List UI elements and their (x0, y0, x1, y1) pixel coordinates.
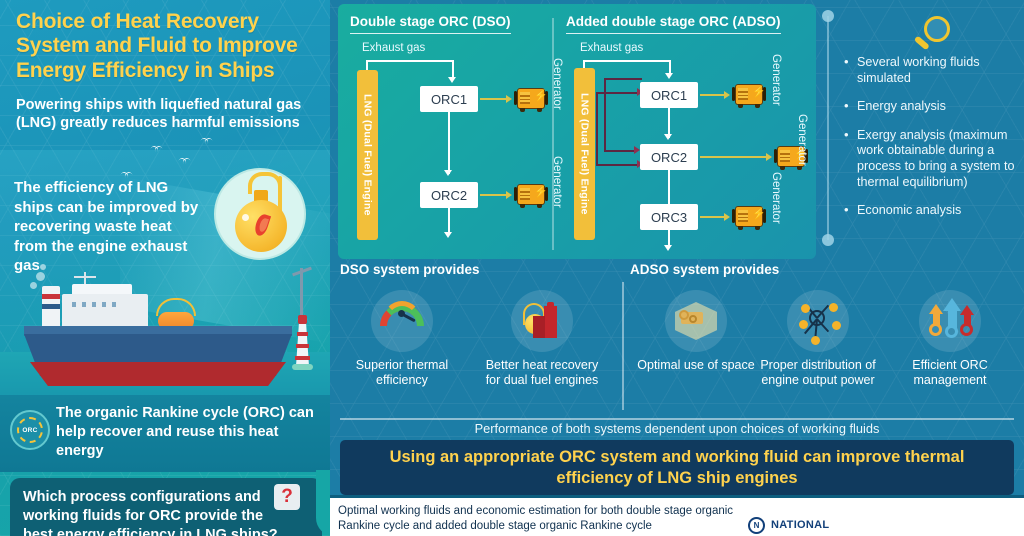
footer-bar: Optimal working fluids and economic esti… (330, 498, 1024, 536)
adso-generator-2-label: Generator (796, 114, 808, 206)
research-question-box: Which process configurations and working… (10, 478, 322, 536)
adso-exhaust-arrow (665, 73, 673, 79)
benefit-superior-thermal-efficiency: Superior thermal efficiency (338, 290, 466, 388)
dso-orc1-to-orc2-line (448, 112, 450, 174)
heat-recovery-icon (511, 290, 573, 352)
system-diagrams-band: Double stage ORC (DSO) Exhaust gas LNG (… (338, 4, 816, 259)
dso-exhaust-line-h (366, 60, 454, 62)
gauge-icon (371, 290, 433, 352)
gas-cylinder-flame-icon (214, 168, 306, 260)
adso-recycle-top-h (604, 78, 642, 80)
question-mark-icon: ? (274, 484, 300, 510)
adso-orc3-gen-arrow (724, 213, 730, 221)
dso-exhaust-line-down-right (452, 60, 454, 78)
adso-exhaust-line-h (583, 60, 671, 62)
system-benefits-section: DSO system provides ADSO system provides… (330, 262, 1024, 420)
adso-generator-1-icon: ⚡ (732, 82, 766, 108)
benefit-better-heat-recovery: Better heat recovery for dual fuel engin… (478, 290, 606, 388)
space-box-icon (665, 290, 727, 352)
left-intro-panel: Choice of Heat Recovery System and Fluid… (0, 0, 330, 536)
benefit-efficient-orc-management: Efficient ORC management (886, 290, 1014, 388)
bullet-item: Economic analysis (843, 203, 1018, 219)
dso-exhaust-arrow (448, 77, 456, 83)
orc-statement-text: The organic Rankine cycle (ORC) can help… (56, 404, 324, 461)
dso-panel-title: Double stage ORC (DSO) (350, 14, 511, 34)
adso-panel-title: Added double stage ORC (ADSO) (566, 14, 781, 34)
bullet-item: Exergy analysis (maximum work obtainable… (843, 128, 1018, 190)
lighthouse-icon (292, 310, 314, 372)
rail-dot-bottom (822, 234, 834, 246)
benefit-proper-distribution: Proper distribution of engine output pow… (754, 290, 882, 388)
dso-orc1-gen-arrow (506, 95, 512, 103)
adso-orc1-gen-arrow (724, 91, 730, 99)
rail-dot-top (822, 10, 834, 22)
adso-engine-bar: LNG (Dual Fuel) Engine (574, 68, 595, 240)
adso-orc1-gen-line (700, 94, 726, 96)
bird-icon (150, 146, 163, 153)
adso-exhaust-gas-label: Exhaust gas (580, 42, 643, 54)
footer-caption: Optimal working fluids and economic esti… (338, 504, 738, 534)
efficiency-statement: The efficiency of LNG ships can be impro… (14, 178, 204, 276)
adso-outlet-arrow (664, 245, 672, 251)
performance-note: Performance of both systems dependent up… (340, 421, 1014, 436)
dso-orc2-arrow (444, 170, 452, 176)
dso-generator-1-icon: ⚡ (514, 86, 548, 112)
analysis-bullet-list: Several working fluids simulated Energy … (843, 55, 1018, 232)
performance-divider (340, 418, 1014, 420)
dso-orc1-gen-line (480, 98, 508, 100)
analysis-rail (827, 16, 829, 240)
adso-orc2-arrow (664, 134, 672, 140)
bird-icon (178, 158, 191, 165)
adso-exhaust-line-down-right (669, 60, 671, 74)
adso-generator-3-label: Generator (770, 172, 782, 258)
adso-orc3-box: ORC3 (640, 204, 698, 230)
bullet-item: Several working fluids simulated (843, 55, 1018, 86)
adso-recycle-upper-h (596, 92, 640, 94)
adso-recycle-lower-h (596, 164, 640, 166)
benefits-divider (622, 282, 624, 410)
dso-generator-1-label: Generator (551, 58, 563, 144)
growth-arrows-gears-icon (919, 290, 981, 352)
benefit-label: Better heat recovery for dual fuel engin… (478, 358, 606, 388)
orc-statement-row: ORC The organic Rankine cycle (ORC) can … (10, 404, 322, 468)
page-title: Choice of Heat Recovery System and Fluid… (16, 10, 316, 83)
benefit-label: Optimal use of space (632, 358, 760, 373)
dso-exhaust-gas-label: Exhaust gas (362, 42, 425, 54)
benefit-label: Superior thermal efficiency (338, 358, 466, 388)
conclusion-banner: Using an appropriate ORC system and work… (340, 440, 1014, 495)
adso-generator-3-icon: ⚡ (732, 204, 766, 230)
dso-orc2-gen-line (480, 194, 508, 196)
dso-orc2-outlet-line (448, 208, 450, 234)
bullet-item: Energy analysis (843, 99, 1018, 115)
network-distribution-icon (787, 290, 849, 352)
adso-recycle-mid-h (604, 150, 636, 152)
adso-orc2-to-orc3-line (668, 170, 670, 208)
adso-generator-1-label: Generator (770, 54, 782, 140)
adso-provides-heading: ADSO system provides (630, 262, 779, 277)
orc-cycle-icon: ORC (10, 410, 50, 450)
logo-mark: N (748, 517, 765, 534)
dso-generator-2-label: Generator (551, 156, 563, 242)
adso-orc1-box: ORC1 (640, 82, 698, 108)
orc-badge-label: ORC (12, 412, 48, 448)
page-subtitle: Powering ships with liquefied natural ga… (16, 96, 308, 133)
panel-corner-curve (316, 470, 330, 536)
logo-text: NATIONAL (771, 519, 829, 531)
adso-recycle-outer-v (596, 92, 598, 166)
conclusion-text: Using an appropriate ORC system and work… (360, 447, 994, 487)
dso-engine-bar: LNG (Dual Fuel) Engine (357, 70, 378, 240)
national-logo: N NATIONAL (748, 515, 948, 535)
dso-orc1-box: ORC1 (420, 86, 478, 112)
adso-orc2-gen-line (700, 156, 768, 158)
benefit-label: Proper distribution of engine output pow… (754, 358, 882, 388)
dso-provides-heading: DSO system provides (340, 262, 480, 277)
dso-outlet-arrow (444, 232, 452, 238)
research-question-text: Which process configurations and working… (23, 488, 285, 536)
adso-orc2-gen-arrow (766, 153, 772, 161)
bird-icon (200, 138, 213, 145)
adso-orc3-gen-line (700, 216, 726, 218)
magnifier-icon (910, 14, 954, 54)
dso-orc2-gen-arrow (506, 191, 512, 199)
dso-generator-2-icon: ⚡ (514, 182, 548, 208)
right-content-area: Double stage ORC (DSO) Exhaust gas LNG (… (330, 0, 1024, 536)
lng-ship-illustration (16, 272, 316, 390)
benefit-label: Efficient ORC management (886, 358, 1014, 388)
adso-recycle-left-v (604, 78, 606, 152)
adso-orc2-box: ORC2 (640, 144, 698, 170)
benefit-optimal-use-of-space: Optimal use of space (632, 290, 760, 373)
dso-orc2-box: ORC2 (420, 182, 478, 208)
